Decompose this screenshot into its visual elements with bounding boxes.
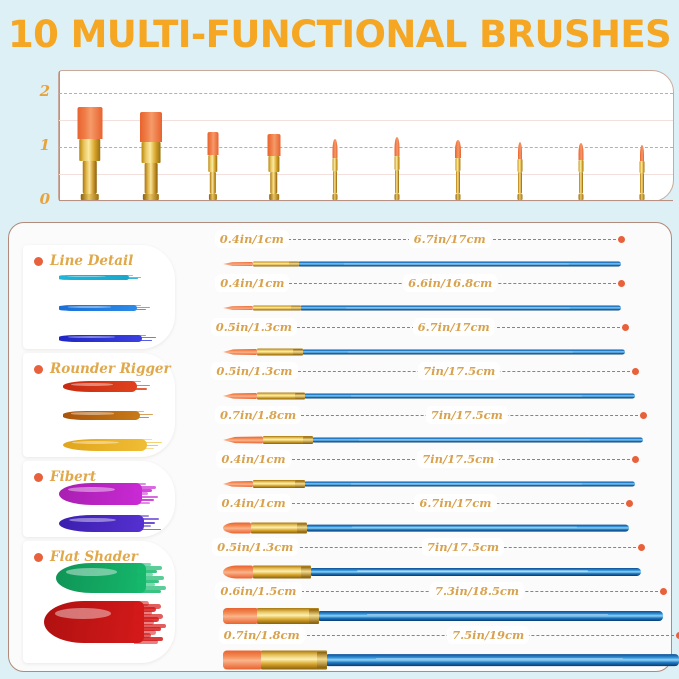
chart-brush-bar (565, 143, 597, 200)
brush-handle (209, 172, 215, 194)
brush-illustration (223, 473, 635, 495)
chart-brush-bar (504, 142, 536, 201)
chart-brush-bar (74, 107, 106, 200)
stroke-frays (129, 305, 154, 311)
brush-handle (319, 611, 663, 621)
chart-y-axis (59, 71, 60, 201)
paint-stroke-sample (44, 601, 166, 643)
brush-bristle (223, 262, 253, 266)
dimension-line: 0.6in/1.5cm7.3in/18.5cm (223, 585, 665, 598)
brush-bristle (333, 139, 338, 157)
handle-highlight (376, 658, 622, 660)
total-length-label: 6.6in/16.8cm (403, 274, 497, 292)
brush-bristle (223, 651, 261, 670)
tip-size-label: 0.5in/1.3cm (212, 538, 298, 556)
brush-handle (579, 172, 583, 194)
brush-detail-panel: Line DetailRounder RiggerFibertFlat Shad… (8, 222, 672, 672)
brush-handle-end (517, 194, 522, 200)
brush-illustration (223, 517, 629, 539)
total-length-label: 7.5in/19cm (447, 626, 529, 644)
brush-handle (299, 262, 621, 267)
brush-handle (305, 394, 635, 399)
paint-stroke-sample (63, 411, 157, 420)
brush-bristle (223, 523, 251, 534)
brush-bristle (223, 608, 257, 624)
brush-handle (307, 525, 629, 532)
stroke-frays (130, 381, 154, 392)
brush-row: 0.6in/1.5cm7.3in/18.5cm (223, 585, 665, 629)
stroke-body (44, 601, 144, 643)
brush-handle (303, 350, 625, 355)
chart-brush-bar (258, 134, 290, 200)
brush-ferrule-crimp (303, 437, 313, 444)
tip-size-label: 0.6in/1.5cm (215, 582, 301, 600)
brush-bristle (140, 112, 162, 142)
total-length-label: 7.3in/18.5cm (430, 582, 524, 600)
brush-handle (456, 171, 460, 194)
tip-size-label: 0.4in/1cm (215, 274, 289, 292)
brush-bristle (223, 393, 257, 399)
stroke-highlight (69, 518, 117, 522)
brush-handle (333, 171, 337, 194)
total-length-label: 7in/17.5cm (426, 406, 508, 424)
brush-row: 0.5in/1.3cm7in/17.5cm (223, 541, 665, 585)
brush-row: 0.4in/1cm6.7in/17cm (223, 233, 665, 277)
chart-brush-bar (135, 112, 167, 200)
brush-handle-end (456, 194, 461, 200)
brush-bristle (518, 142, 522, 160)
brush-illustration (223, 605, 663, 627)
dimension-node (632, 456, 639, 463)
category-card-rounder-rigger[interactable]: Rounder Rigger (23, 353, 175, 457)
brush-illustration (223, 253, 621, 275)
stroke-highlight (71, 412, 114, 414)
stroke-frays (137, 563, 165, 593)
dimension-node (622, 324, 629, 331)
brush-handle-end (578, 194, 583, 200)
gridline (59, 93, 673, 94)
brush-handle (270, 172, 278, 194)
dimension-line: 0.4in/1cm7in/17.5cm (223, 453, 665, 466)
dimension-line: 0.5in/1.3cm6.7in/17cm (223, 321, 665, 334)
paint-stroke-sample (59, 335, 159, 342)
total-length-label: 6.7in/17cm (413, 318, 495, 336)
stroke-highlight (66, 568, 116, 576)
brush-ferrule (142, 142, 161, 163)
total-length-label: 6.7in/17cm (409, 230, 491, 248)
brush-ferrule-crimp (289, 262, 299, 267)
tip-size-label: 0.4in/1cm (216, 450, 290, 468)
handle-highlight (357, 570, 588, 571)
tip-size-label: 0.7in/1.8cm (219, 626, 305, 644)
dimension-node (626, 500, 633, 507)
stroke-highlight (71, 383, 113, 386)
brush-illustration (223, 341, 625, 363)
brush-ferrule-crimp (317, 652, 327, 668)
dimension-node (676, 632, 679, 639)
dimension-node (660, 588, 667, 595)
brush-handle (518, 172, 522, 194)
brush-handle (305, 482, 635, 487)
brush-row: 0.5in/1.3cm6.7in/17cm (223, 321, 665, 365)
brush-illustration (223, 297, 621, 319)
category-card-line-detail[interactable]: Line Detail (23, 245, 175, 349)
brush-bristle (223, 349, 257, 355)
brush-bristle (394, 137, 399, 156)
brush-handle-end (143, 194, 159, 200)
brush-row: 0.4in/1cm7in/17.5cm (223, 453, 665, 497)
brush-handle-end (269, 194, 279, 200)
brush-ferrule-crimp (295, 481, 305, 488)
infographic-root: 10 MULTI-FUNCTIONAL BRUSHES 012 Line Det… (0, 0, 679, 679)
tip-size-label: 0.5in/1.3cm (211, 318, 297, 336)
brush-row: 0.4in/1cm6.7in/17cm (223, 497, 665, 541)
chart-brush-bar (381, 137, 413, 200)
paint-stroke-sample (59, 483, 159, 505)
brush-illustration (223, 649, 679, 671)
brush-row: 0.4in/1cm6.6in/16.8cm (223, 277, 665, 321)
total-length-label: 7in/17.5cm (417, 450, 499, 468)
brush-handle-end (208, 194, 216, 200)
stroke-highlight (68, 306, 111, 308)
paint-stroke-sample (59, 515, 162, 532)
chart-brush-bar (197, 132, 229, 200)
brush-handle (301, 306, 621, 311)
brush-bristle (267, 134, 280, 156)
brush-handle-end (80, 194, 99, 200)
brush-ferrule (268, 156, 279, 172)
brush-handle (82, 161, 97, 194)
brush-handle (145, 163, 158, 194)
brush-ferrule (79, 139, 101, 161)
paint-stroke-sample (56, 563, 165, 593)
handle-highlight (351, 483, 582, 484)
brush-handle-end (394, 194, 399, 200)
dimension-node (632, 368, 639, 375)
stroke-frays (134, 601, 166, 643)
category-header: Line Detail (34, 253, 133, 269)
brush-row: 0.7in/1.8cm7.5in/19cm (223, 629, 665, 673)
brush-bristle (223, 481, 253, 487)
bullet-dot-icon (34, 473, 43, 482)
handle-highlight (351, 395, 582, 396)
category-header: Rounder Rigger (34, 361, 171, 377)
dimension-node (638, 544, 645, 551)
brush-illustration (223, 429, 643, 451)
brush-bristle (223, 566, 253, 579)
stroke-highlight (72, 441, 120, 444)
category-label: Line Detail (50, 253, 133, 269)
brush-ferrule-crimp (309, 609, 319, 623)
stroke-frays (134, 483, 160, 505)
brush-bristle (578, 143, 583, 160)
handle-highlight (367, 614, 608, 615)
brush-handle (395, 170, 399, 194)
stroke-frays (122, 275, 144, 280)
dimension-line: 0.4in/1cm6.7in/17cm (223, 497, 665, 510)
category-card-flat-shader[interactable]: Flat Shader (23, 541, 175, 663)
paint-stroke-sample (63, 439, 166, 451)
handle-highlight (348, 351, 573, 352)
dimension-line: 0.5in/1.3cm7in/17.5cm (223, 365, 665, 378)
brush-ferrule-crimp (301, 566, 311, 577)
page-title: 10 MULTI-FUNCTIONAL BRUSHES (8, 14, 678, 56)
handle-highlight (346, 307, 570, 308)
stroke-highlight (68, 487, 114, 493)
brush-ferrule (333, 158, 338, 171)
brush-illustration (223, 561, 641, 583)
brush-bristle (455, 140, 461, 158)
y-axis-tick-label: 1 (24, 136, 50, 154)
total-length-label: 7in/17.5cm (422, 538, 504, 556)
paint-stroke-sample (63, 381, 154, 392)
chart-brush-bar (442, 140, 474, 200)
brush-bristle (223, 437, 263, 444)
dimension-line: 0.5in/1.3cm7in/17.5cm (223, 541, 665, 554)
brush-bristle (207, 132, 218, 155)
brush-ferrule (456, 158, 461, 171)
gridline (59, 201, 673, 202)
dimension-line: 0.4in/1cm6.6in/16.8cm (223, 277, 665, 290)
brush-row: 0.7in/1.8cm7in/17.5cm (223, 409, 665, 453)
dimension-line: 0.4in/1cm6.7in/17cm (223, 233, 665, 246)
brush-handle (313, 438, 643, 443)
y-axis-tick-label: 0 (24, 190, 50, 208)
dimension-line: 0.7in/1.8cm7.5in/19cm (223, 629, 665, 642)
tip-size-label: 0.4in/1cm (217, 494, 291, 512)
category-card-fibert[interactable]: Fibert (23, 461, 175, 537)
tip-size-label: 0.7in/1.8cm (215, 406, 301, 424)
brush-ferrule-crimp (293, 349, 303, 355)
stroke-highlight (68, 336, 114, 338)
dimension-node (640, 412, 647, 419)
handle-highlight (344, 263, 569, 264)
bullet-dot-icon (34, 553, 43, 562)
brush-bristle (77, 107, 102, 139)
brush-ferrule-crimp (295, 393, 305, 399)
handle-highlight (352, 527, 577, 528)
brush-bristle (223, 306, 253, 310)
brush-handle-end (333, 194, 338, 200)
dimension-node (618, 280, 625, 287)
dimension-node (618, 236, 625, 243)
category-label: Rounder Rigger (50, 361, 171, 377)
stroke-highlight (55, 608, 111, 619)
handle-highlight (359, 439, 590, 440)
brush-ferrule-crimp (297, 523, 307, 532)
brush-ferrule-crimp (291, 306, 301, 311)
total-length-label: 7in/17.5cm (418, 362, 500, 380)
brush-handle (311, 568, 641, 576)
brush-ferrule (640, 161, 645, 173)
stroke-frays (132, 411, 157, 420)
brush-handle (640, 173, 644, 194)
bullet-dot-icon (34, 365, 43, 374)
paint-stroke-sample (59, 275, 144, 280)
brush-ferrule (394, 156, 399, 170)
bullet-dot-icon (34, 257, 43, 266)
brush-handle (327, 654, 679, 666)
stroke-frays (136, 515, 163, 532)
brush-illustration (223, 385, 635, 407)
y-axis-tick-label: 2 (24, 82, 50, 100)
tip-size-label: 0.4in/1cm (215, 230, 289, 248)
tip-size-label: 0.5in/1.3cm (211, 362, 297, 380)
brush-ferrule (208, 155, 217, 171)
stroke-frays (139, 439, 166, 451)
chart-brush-bar (626, 145, 658, 200)
brush-row: 0.5in/1.3cm7in/17.5cm (223, 365, 665, 409)
brush-ferrule (517, 159, 522, 172)
brush-handle-end (640, 194, 645, 200)
chart-brush-bar (319, 139, 351, 200)
brush-size-chart (58, 70, 674, 202)
brush-bristle (640, 145, 644, 162)
dimension-line: 0.7in/1.8cm7in/17.5cm (223, 409, 665, 422)
total-length-label: 6.7in/17cm (414, 494, 496, 512)
paint-stroke-sample (59, 305, 153, 311)
stroke-frays (134, 335, 160, 342)
brush-ferrule (578, 160, 583, 173)
